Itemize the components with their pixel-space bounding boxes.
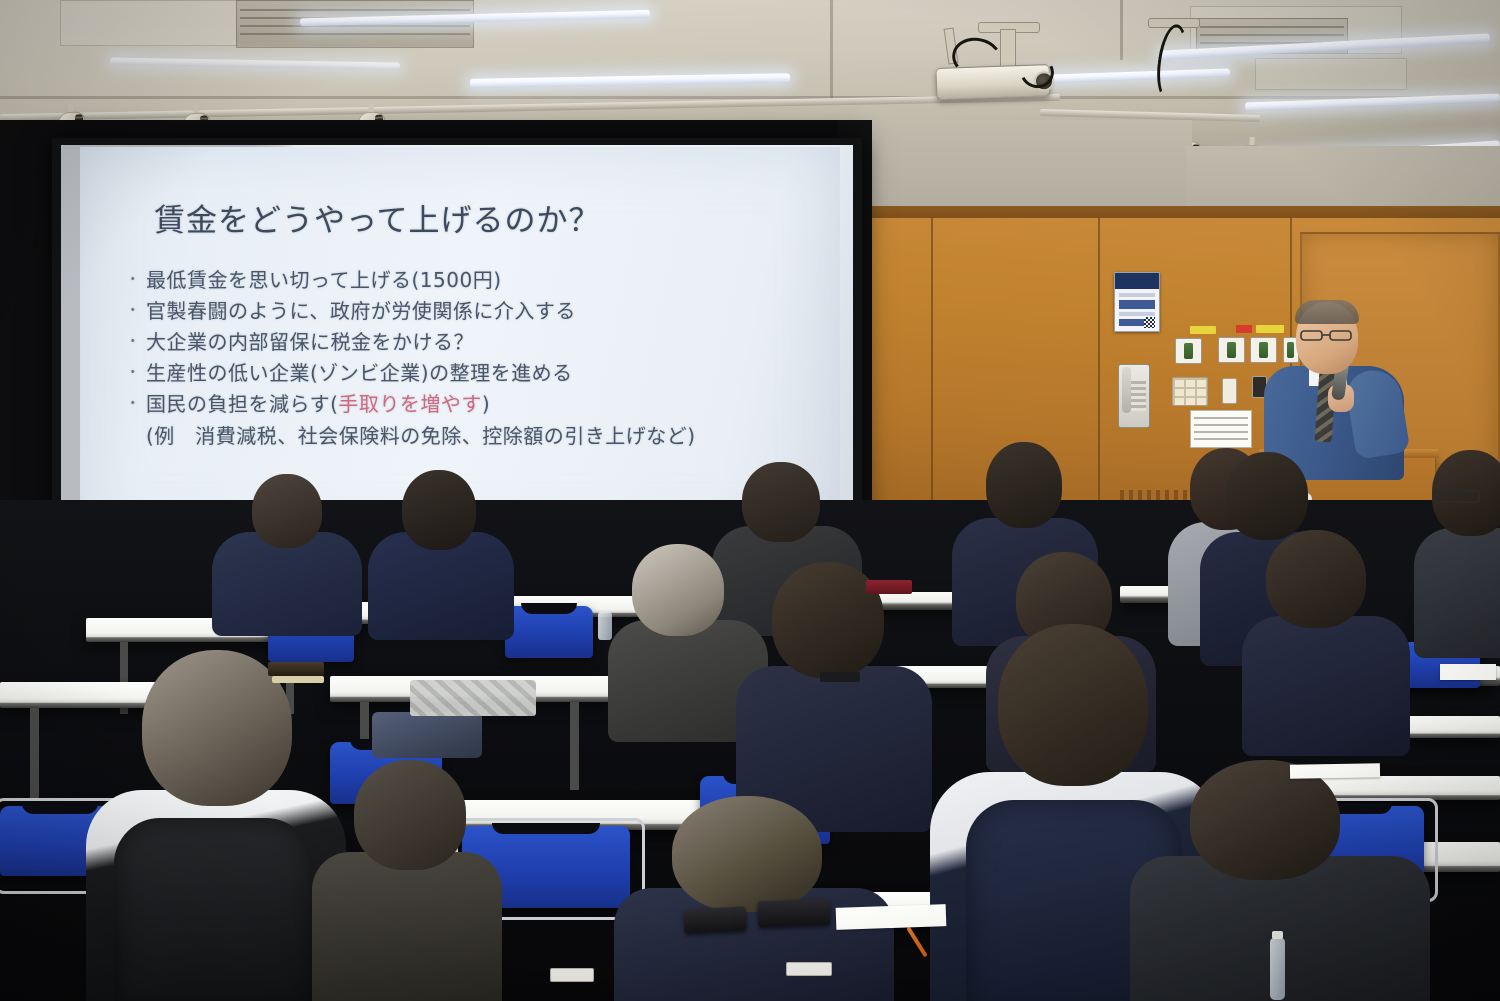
light-switch[interactable] [1175, 338, 1202, 364]
projector-mount-pole [1000, 29, 1016, 69]
bullet-text-before: 国民の負担を減らす( [146, 392, 338, 416]
bullet-marker: ・ [120, 265, 146, 296]
glasses-icon [1434, 490, 1480, 503]
bullet-marker: ・ [120, 358, 146, 389]
checked-jacket-on-chair [410, 680, 536, 716]
presenter-hair [1295, 300, 1359, 324]
attendee-head [998, 624, 1148, 786]
slide-bullet-item: ・ 最低賃金を思い切って上げる(1500円) [120, 265, 820, 296]
attendee-head [1266, 530, 1366, 628]
ceiling-seam [0, 96, 1500, 99]
notebook [268, 662, 324, 676]
water-bottle [598, 612, 612, 640]
desk-leg [30, 708, 39, 798]
attendee [1242, 530, 1410, 746]
folded-jacket [372, 712, 482, 758]
bullet-marker: ・ [120, 296, 146, 327]
bullet-text-highlight: 手取りを増やす [338, 392, 482, 416]
slide-bullet-item: ・ 大企業の内部留保に税金をかける？ [120, 327, 820, 358]
water-bottle [1270, 938, 1285, 1000]
wall-phone[interactable] [1118, 364, 1150, 428]
attendee-head [672, 796, 822, 912]
smartphone [683, 906, 746, 933]
phone-keypad [1131, 381, 1146, 411]
chair [505, 606, 593, 658]
bullet-text: 官製春闘のように、政府が労使関係に介入する [146, 296, 820, 327]
slide-bullet-list: ・ 最低賃金を思い切って上げる(1500円) ・ 官製春闘のように、政府が労使関… [120, 265, 820, 453]
attendee-head [354, 760, 466, 870]
papers [1440, 664, 1496, 680]
attendee-jacket [1414, 528, 1500, 658]
poster-block [1119, 300, 1155, 309]
slide-bullet-item: ・ 官製春闘のように、政府が労使関係に介入する [120, 296, 820, 327]
attendee [736, 562, 932, 822]
bullet-marker: ・ [120, 389, 146, 420]
attendee-front-left [86, 650, 346, 1001]
access-keypad[interactable] [1172, 377, 1208, 406]
quilted-vest [114, 818, 312, 1001]
attendee-jacket [312, 852, 502, 1001]
attendee-head [1226, 452, 1308, 540]
slide-bullet-item: ・ 国民の負担を減らす(手取りを増やす) [120, 389, 820, 420]
papers [836, 904, 947, 930]
red-folder [866, 580, 912, 594]
ceiling-panel [60, 0, 262, 46]
bullet-text-after: ) [482, 392, 490, 416]
desk-label [786, 962, 832, 976]
poster-line [1119, 312, 1155, 316]
attendee-head-grey-hair [632, 544, 724, 636]
attendee-head [402, 470, 476, 550]
qr-code [1144, 317, 1155, 328]
smartphone [758, 899, 831, 927]
glasses-icon [1300, 328, 1354, 339]
attendee-suit [1242, 616, 1410, 756]
poster-line [1119, 293, 1155, 297]
attendee [1414, 450, 1500, 654]
wall-notice [1190, 410, 1252, 448]
wood-panel-seam [1098, 218, 1100, 548]
wifi-info-poster [1114, 272, 1160, 332]
attendee-head [742, 462, 820, 542]
notebook-pages [272, 676, 324, 683]
bullet-text-composite: 国民の負担を減らす(手取りを増やす) [146, 389, 820, 420]
slide-sub-note: (例 消費減税、社会保険料の免除、控除額の引き上げなど) [146, 420, 820, 453]
ceiling-panel [1255, 58, 1407, 90]
desk-item [820, 672, 860, 682]
switch-label-tag [1236, 325, 1252, 333]
wood-panel-seam [931, 218, 933, 548]
upper-wall [862, 120, 1192, 212]
bullet-marker: ・ [120, 327, 146, 358]
wall-plate [1222, 378, 1237, 404]
attendee-head [986, 442, 1062, 528]
light-switch[interactable] [1218, 337, 1245, 363]
switch-label-tag [1190, 326, 1216, 334]
ceiling-seam [1120, 0, 1123, 60]
bullet-text: 大企業の内部留保に税金をかける？ [146, 327, 820, 358]
attendee [312, 760, 502, 1001]
desk [1404, 716, 1500, 738]
papers [1290, 763, 1380, 779]
slide-bullet-item: ・ 生産性の低い企業(ゾンビ企業)の整理を進める [120, 358, 820, 389]
poster-header [1115, 273, 1159, 289]
bullet-text: 生産性の低い企業(ゾンビ企業)の整理を進める [146, 358, 820, 389]
attendee-front-center [614, 796, 894, 1001]
desk-label [550, 968, 594, 982]
ceiling-seam [830, 0, 833, 100]
desk-leg [570, 702, 579, 790]
attendee [368, 470, 514, 636]
attendee [212, 474, 362, 634]
phone-handset [1122, 367, 1131, 413]
bullet-text: 最低賃金を思い切って上げる(1500円) [146, 265, 820, 296]
slide-title: 賃金をどうやって上げるのか？ [154, 195, 600, 240]
lecture-room-photo: 賃金をどうやって上げるのか？ ・ 最低賃金を思い切って上げる(1500円) ・ … [0, 0, 1500, 1001]
attendee-head [252, 474, 322, 548]
